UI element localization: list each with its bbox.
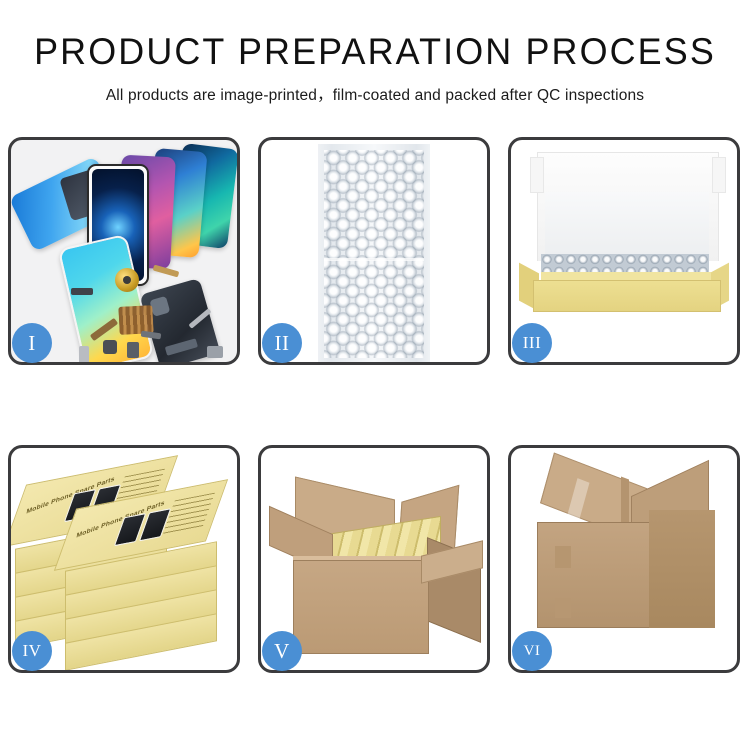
process-step-6: VI xyxy=(508,445,740,673)
page-subtitle: All products are image-printed，film-coat… xyxy=(0,83,750,105)
step-badge-3: III xyxy=(512,323,552,363)
process-step-3: III xyxy=(508,137,740,365)
connector-chip-icon xyxy=(118,305,153,335)
step-badge-5: V xyxy=(262,631,302,671)
step-badge-1: I xyxy=(12,323,52,363)
product-preparation-process-page: PRODUCT PREPARATION PROCESS All products… xyxy=(0,0,750,750)
step-badge-4: IV xyxy=(12,631,52,671)
carton-tab-icon xyxy=(555,546,571,568)
mailer-box-interior xyxy=(545,192,709,260)
process-step-2: II xyxy=(258,137,490,365)
sim-tray-icon xyxy=(79,346,89,362)
process-steps-grid: I II xyxy=(8,137,742,737)
step-badge-2: II xyxy=(262,323,302,363)
speaker-part-icon xyxy=(115,268,139,292)
sealed-carton-right-face xyxy=(649,510,715,628)
mailer-box-front xyxy=(533,280,721,312)
spec-lines xyxy=(162,493,215,537)
bubble-wrap-sleeve-icon xyxy=(318,144,430,362)
page-header: PRODUCT PREPARATION PROCESS All products… xyxy=(0,0,750,105)
carton-tab-icon xyxy=(555,598,571,618)
bubble-pattern xyxy=(324,150,424,358)
small-part-icon xyxy=(207,346,223,358)
process-step-4: Mobile Phone Spare Parts Mobile Phone Sp… xyxy=(8,445,240,673)
page-title: PRODUCT PREPARATION PROCESS xyxy=(11,30,739,74)
process-step-1: I xyxy=(8,137,240,365)
small-part-icon xyxy=(71,288,93,295)
process-step-5: V xyxy=(258,445,490,673)
bubble-wrap-seam xyxy=(324,258,424,261)
step-badge-6: VI xyxy=(512,631,552,671)
small-part-icon xyxy=(127,342,139,358)
carton-front-face xyxy=(293,560,429,654)
small-part-icon xyxy=(103,340,117,354)
